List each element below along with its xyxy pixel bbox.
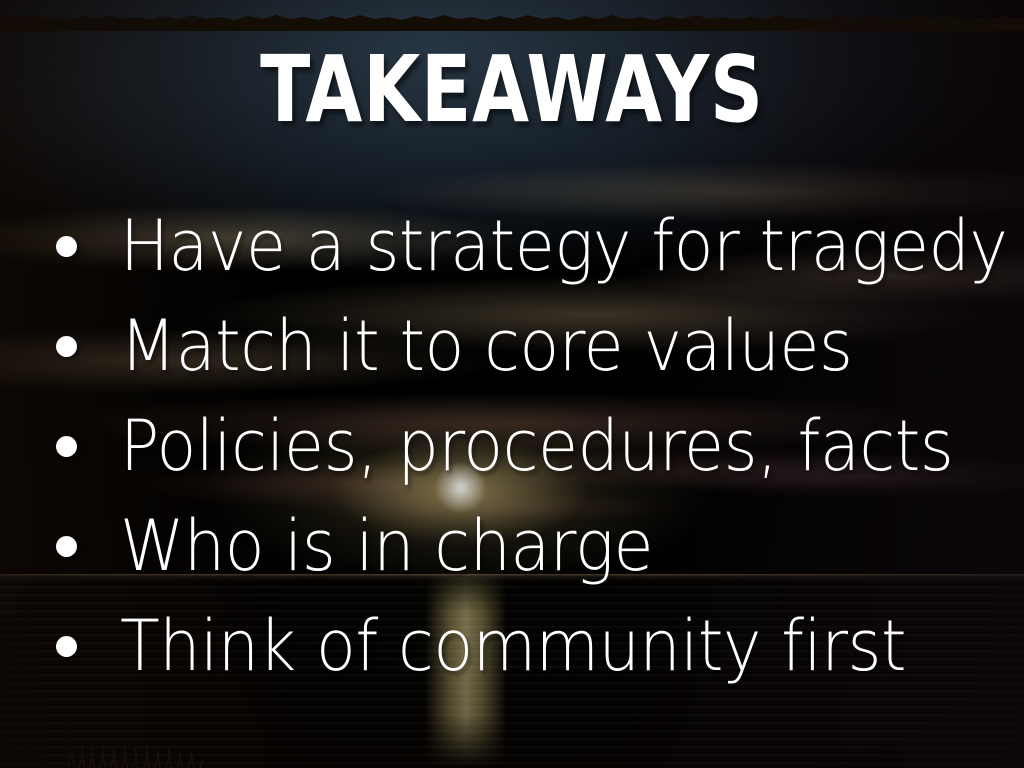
bullet-point-icon bbox=[56, 636, 77, 657]
takeaways-bullet-list: Have a strategy for tragedy Match it to … bbox=[44, 196, 1004, 696]
slide-title: TAKEAWAYS bbox=[102, 44, 921, 136]
list-item-label: Match it to core values bbox=[120, 309, 852, 383]
list-item: Who is in charge bbox=[44, 496, 1004, 596]
slide-canvas: TAKEAWAYS Have a strategy for tragedy Ma… bbox=[0, 0, 1024, 768]
list-item-label: Have a strategy for tragedy bbox=[120, 209, 1007, 283]
bullet-point-icon bbox=[56, 536, 77, 557]
list-item-label: Policies, procedures, facts bbox=[120, 409, 953, 483]
slide-content: TAKEAWAYS Have a strategy for tragedy Ma… bbox=[0, 0, 1024, 768]
list-item: Think of community first bbox=[44, 596, 1004, 696]
bullet-point-icon bbox=[56, 236, 77, 257]
bullet-point-icon bbox=[56, 436, 77, 457]
list-item: Have a strategy for tragedy bbox=[44, 196, 1004, 296]
list-item: Policies, procedures, facts bbox=[44, 396, 1004, 496]
list-item: Match it to core values bbox=[44, 296, 1004, 396]
bullet-point-icon bbox=[56, 336, 77, 357]
list-item-label: Who is in charge bbox=[120, 509, 653, 583]
list-item-label: Think of community first bbox=[120, 609, 906, 683]
